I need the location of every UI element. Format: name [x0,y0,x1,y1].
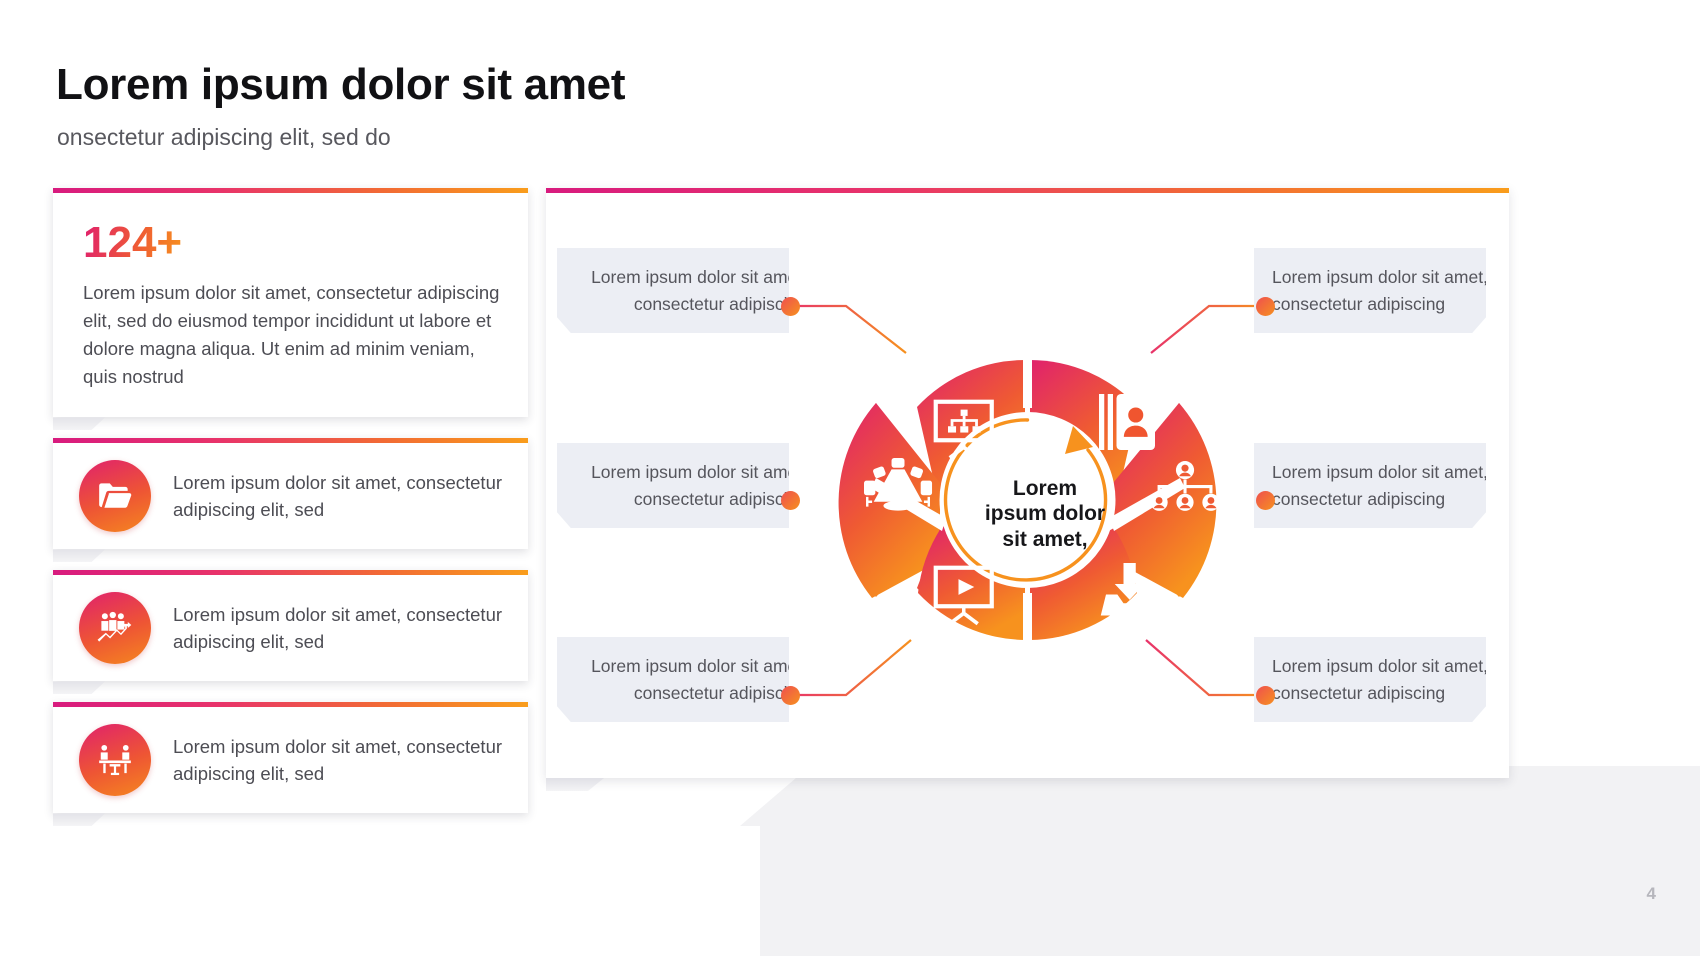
card-corner-notch [53,549,105,562]
callout-top-left[interactable]: Lorem ipsum dolor sit amet, consectetur … [557,248,825,333]
stat-value: 124+ [83,221,182,265]
callout-top-right[interactable]: Lorem ipsum dolor sit amet, consectetur … [1254,248,1522,333]
card-corner-notch [53,681,105,694]
callout-middle-left[interactable]: Lorem ipsum dolor sit amet, consectetur … [557,443,825,528]
callout-middle-right[interactable]: Lorem ipsum dolor sit amet, consectetur … [1254,443,1522,528]
hub-label: Lorem ipsum dolor sit amet, [965,434,1125,594]
slide: Lorem ipsum dolor sit amet onsectetur ad… [0,0,1700,956]
page-subtitle: onsectetur adipiscing elit, sed do [57,124,391,151]
connector-dot-top-right [1256,297,1275,316]
page-number: 4 [1647,884,1656,904]
connector-dot-middle-left [781,491,800,510]
panel-corner-notch [546,778,604,791]
list-item[interactable]: Lorem ipsum dolor sit amet, consectetur … [53,702,528,813]
callout-bottom-right[interactable]: Lorem ipsum dolor sit amet, consectetur … [1254,637,1522,722]
card-corner-notch [53,813,105,826]
people-growth-chart-icon [79,592,151,664]
diagram-panel: Lorem ipsum dolor sit amet, consectetur … [546,188,1509,778]
meeting-table-people-icon [79,724,151,796]
list-item-text: Lorem ipsum dolor sit amet, consectetur … [173,601,508,657]
stat-card: 124+ Lorem ipsum dolor sit amet, consect… [53,188,528,417]
background-sweep-secondary [0,826,760,956]
list-item-text: Lorem ipsum dolor sit amet, consectetur … [173,733,508,789]
list-item[interactable]: Lorem ipsum dolor sit amet, consectetur … [53,570,528,681]
card-corner-notch [53,417,105,430]
list-item[interactable]: Lorem ipsum dolor sit amet, consectetur … [53,438,528,549]
connector-dot-bottom-right [1256,686,1275,705]
diagram-hub: Lorem ipsum dolor sit amet, [965,434,1125,594]
connector-dot-middle-right [1256,491,1275,510]
folder-open-icon [79,460,151,532]
connector-dot-top-left [781,297,800,316]
stat-description: Lorem ipsum dolor sit amet, consectetur … [83,279,502,391]
callout-bottom-left[interactable]: Lorem ipsum dolor sit amet, consectetur … [557,637,825,722]
page-title: Lorem ipsum dolor sit amet [56,60,625,110]
left-column: 124+ Lorem ipsum dolor sit amet, consect… [53,188,528,813]
circular-process-diagram: Lorem ipsum dolor sit amet, consectetur … [546,188,1509,778]
list-item-text: Lorem ipsum dolor sit amet, consectetur … [173,469,508,525]
connector-dot-bottom-left [781,686,800,705]
